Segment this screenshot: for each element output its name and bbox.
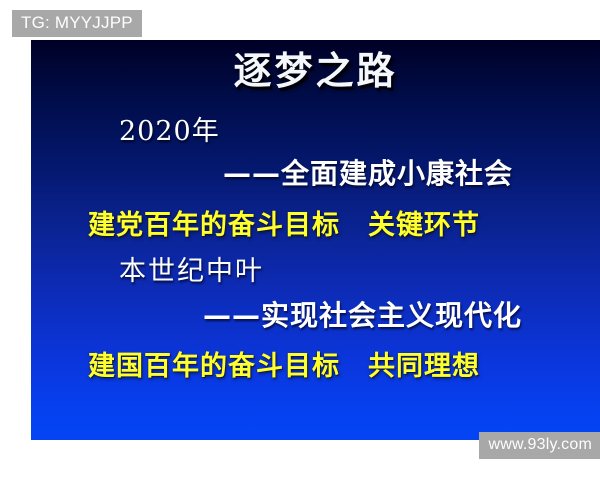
slide-line-nation-centenary-goal: 建国百年的奋斗目标 共同理想 (88, 353, 480, 380)
watermark-bottom-right: www.93ly.com (479, 432, 600, 459)
slide-line-mid-century: 本世纪中叶 (119, 258, 264, 285)
slide-line-goal-modernization: ——实现社会主义现代化 (203, 302, 522, 330)
slide-line-year: 2020年 (119, 118, 220, 145)
slide-line-goal-2020: ——全面建成小康社会 (223, 160, 513, 188)
watermark-top-left: TG: MYYJJPP (12, 10, 142, 37)
slide-title: 逐梦之路 (31, 52, 600, 90)
presentation-slide: 逐梦之路 2020年 ——全面建成小康社会 建党百年的奋斗目标 关键环节 本世纪… (31, 40, 600, 440)
slide-line-party-centenary-goal: 建党百年的奋斗目标 关键环节 (88, 212, 480, 239)
